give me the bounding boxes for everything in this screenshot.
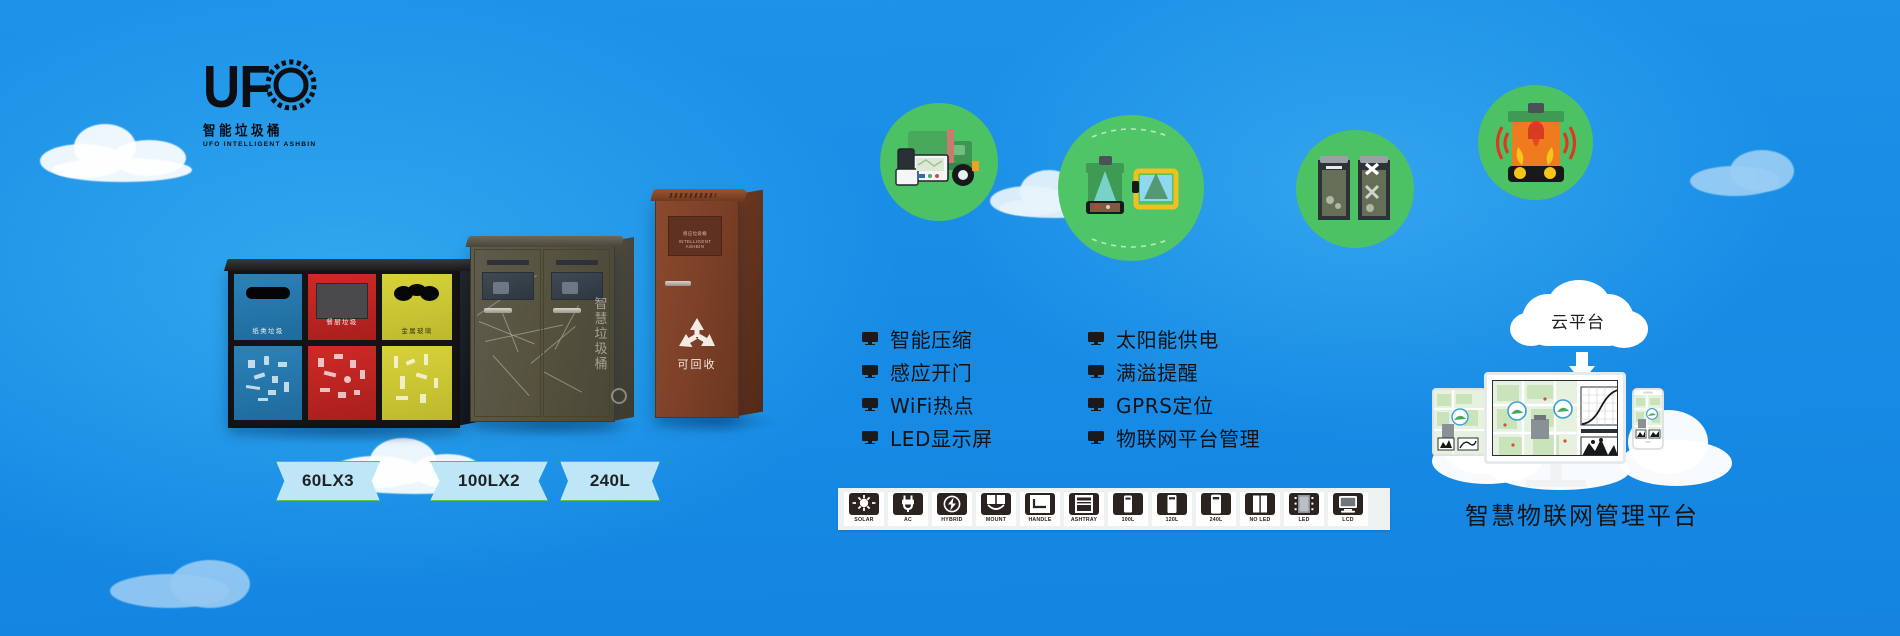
feature-item: GPRS定位 <box>1088 388 1260 421</box>
platform-title: 智慧物联网管理平台 <box>1412 496 1752 531</box>
monitor-bullet-icon <box>1088 431 1104 444</box>
tablet-screen <box>1434 390 1484 454</box>
bin-level-sensor-icon <box>1058 115 1204 261</box>
fire-alarm-circle <box>1478 85 1593 200</box>
spec-tile-mount: MOUNT <box>976 492 1016 526</box>
spec-label: AC <box>904 517 912 523</box>
led-icon <box>1289 493 1319 515</box>
bin-fire-alarm-icon <box>1478 85 1593 200</box>
bin-240l-icon <box>1201 493 1231 515</box>
feature-label: 太阳能供电 <box>1116 324 1219 353</box>
spec-label: LED <box>1298 517 1309 523</box>
feature-column-right: 太阳能供电 满溢提醒 GPRS定位 物联网平台管理 <box>1088 322 1260 454</box>
compartment-lower-paper <box>234 346 302 420</box>
logo-english-text: UFO INTELLIGENT ASHBIN <box>203 141 311 148</box>
monitor-bullet-icon <box>862 365 878 378</box>
spec-label: SOLAR <box>854 517 873 523</box>
lightning-circle-icon <box>937 493 967 515</box>
lcd-icon <box>1333 493 1363 515</box>
lid-vents <box>669 193 716 198</box>
monitor-bullet-icon <box>1088 365 1104 378</box>
spec-tile-ashtray: ASHTRAY <box>1064 492 1104 526</box>
spec-tile-led: LED <box>1284 492 1324 526</box>
spec-tile-ac: AC <box>888 492 928 526</box>
bin-100l-icon <box>1113 493 1143 515</box>
recycle-icon <box>676 316 718 354</box>
spec-label: ASHTRAY <box>1071 517 1097 523</box>
display-line-1: 感应垃圾桶 <box>669 231 721 237</box>
no-led-icon <box>1245 493 1275 515</box>
bin-top-cap <box>466 236 625 247</box>
monitor-bullet-icon <box>1088 398 1104 411</box>
monitor-screen <box>1492 380 1618 456</box>
plug-icon <box>893 493 923 515</box>
litter-graphic <box>382 346 452 420</box>
compartment-upper-metalglass: 金属玻璃 <box>382 274 452 340</box>
bin-vertical-text: 智慧垃圾桶 <box>594 296 609 371</box>
feature-label: 满溢提醒 <box>1116 357 1198 386</box>
feature-column-left: 智能压缩 感应开门 WiFi热点 LED显示屏 <box>862 322 993 454</box>
spec-label: NO LED <box>1249 517 1270 523</box>
capacity-banner-240l: 240L <box>560 461 660 501</box>
monitor-bullet-icon <box>862 431 878 444</box>
feature-item: 太阳能供电 <box>1088 322 1260 355</box>
ashtray-icon <box>1069 493 1099 515</box>
bin-screen-left <box>482 272 534 300</box>
compartment-lower-kitchen <box>308 346 376 420</box>
feature-label: LED显示屏 <box>890 423 993 452</box>
door-top-strip <box>487 260 529 265</box>
feature-label: 物联网平台管理 <box>1116 423 1260 452</box>
recycling-bin: 感应垃圾桶 INTELLIGENT ASHBIN 可回收 <box>655 198 739 418</box>
fill-sensor-circle <box>1058 115 1204 261</box>
capacity-label-100l: 100LX2 <box>458 471 520 491</box>
compartment-label-kitchen: 餐厨垃圾 <box>308 317 376 326</box>
capacity-banner-100l: 100LX2 <box>430 461 548 501</box>
spec-label: HYBRID <box>941 517 962 523</box>
monitor-device <box>1484 372 1626 464</box>
compartment-label-paper: 纸类垃圾 <box>234 326 302 335</box>
spec-label: LCD <box>1342 517 1353 523</box>
spec-label: HANDLE <box>1028 517 1051 523</box>
bin-120l-icon <box>1157 493 1187 515</box>
three-compartment-bin: 纸类垃圾 餐厨垃圾 金属玻璃 <box>228 268 460 428</box>
phone-screen <box>1634 390 1662 448</box>
compaction-circle <box>1296 130 1414 248</box>
spec-label: MOUNT <box>986 517 1006 523</box>
garbage-truck-with-devices-icon <box>880 103 998 221</box>
clover-slot-icon <box>394 284 440 302</box>
feature-item: 满溢提醒 <box>1088 355 1260 388</box>
spec-label: 120L <box>1166 517 1179 523</box>
bin-top-cap <box>650 189 747 201</box>
litter-graphic <box>308 346 376 420</box>
logo-chinese-text: 智能垃圾桶 <box>203 118 311 140</box>
feature-label: 智能压缩 <box>890 324 972 353</box>
cloud-label-text: 云平台 <box>1551 308 1605 333</box>
door-top-strip <box>556 260 598 265</box>
monitor-bullet-icon <box>1088 332 1104 345</box>
monitor-bullet-icon <box>862 398 878 411</box>
phone-device <box>1632 388 1664 450</box>
wall-mount-icon <box>981 493 1011 515</box>
double-smart-bin: 智慧垃圾桶 <box>470 244 615 422</box>
gear-o-icon <box>265 59 317 111</box>
monitor-bullet-icon <box>862 332 878 345</box>
spec-tile-120l: 120L <box>1152 492 1192 526</box>
bin-ufo-mark <box>611 388 627 404</box>
spec-label: 240L <box>1210 517 1223 523</box>
spec-tile-hybrid: HYBRID <box>932 492 972 526</box>
bin-display-panel: 感应垃圾桶 INTELLIGENT ASHBIN <box>668 216 722 256</box>
monitor-foot <box>1526 480 1586 487</box>
feature-label: GPRS定位 <box>1116 390 1214 419</box>
spec-label: 100L <box>1122 517 1135 523</box>
ufo-logo: UF 智能垃圾桶 UFO INTELLIGENT ASHBIN <box>203 58 311 150</box>
compartment-upper-paper: 纸类垃圾 <box>234 274 302 340</box>
spec-tile-handle: HANDLE <box>1020 492 1060 526</box>
spec-tile-240l: 240L <box>1196 492 1236 526</box>
feature-label: WiFi热点 <box>890 390 974 419</box>
compartment-upper-kitchen: 餐厨垃圾 <box>308 274 376 340</box>
feature-item: 智能压缩 <box>862 322 993 355</box>
feature-item: 感应开门 <box>862 355 993 388</box>
spec-tile-solar: SOLAR <box>844 492 884 526</box>
display-line-2: INTELLIGENT ASHBIN <box>669 239 721 249</box>
cloud-platform-label: 云平台 <box>1522 294 1634 346</box>
feature-label: 感应开门 <box>890 357 972 386</box>
feature-item: LED显示屏 <box>862 421 993 454</box>
compartment-label-metalglass: 金属玻璃 <box>382 326 452 335</box>
feature-item: WiFi热点 <box>862 388 993 421</box>
litter-graphic <box>234 346 302 420</box>
banner-stage: UF 智能垃圾桶 UFO INTELLIGENT ASHBIN 纸类垃圾 餐厨垃… <box>0 0 1900 636</box>
fleet-management-circle <box>880 103 998 221</box>
bin-handle <box>665 281 691 286</box>
two-bins-compaction-icon <box>1296 130 1414 248</box>
feature-item: 物联网平台管理 <box>1088 421 1260 454</box>
bin-door-left <box>474 249 541 417</box>
bin-side-panel <box>736 190 763 417</box>
oval-slot-icon <box>246 287 290 299</box>
capacity-label-60l: 60LX3 <box>302 471 354 491</box>
compartment-lower-metalglass <box>382 346 452 420</box>
panel-slot-icon <box>316 283 368 319</box>
bin-handle-left <box>484 308 512 313</box>
sun-icon <box>849 493 879 515</box>
tablet-device <box>1432 388 1486 456</box>
logo-uf-text: UF <box>203 58 270 115</box>
cloud-platform-illustration: 云平台 <box>1432 300 1732 530</box>
capacity-banner-60l: 60LX3 <box>276 461 380 501</box>
handle-icon <box>1025 493 1055 515</box>
bin-recycle-text: 可回收 <box>655 356 739 372</box>
spec-tile-100l: 100L <box>1108 492 1148 526</box>
spec-icon-strip: SOLAR AC HYBRID <box>838 488 1390 530</box>
bin-top-cap <box>224 259 475 271</box>
bin-handle-right <box>553 308 581 313</box>
capacity-label-240l: 240L <box>590 471 630 491</box>
spec-tile-no-led: NO LED <box>1240 492 1280 526</box>
spec-tile-lcd: LCD <box>1328 492 1368 526</box>
